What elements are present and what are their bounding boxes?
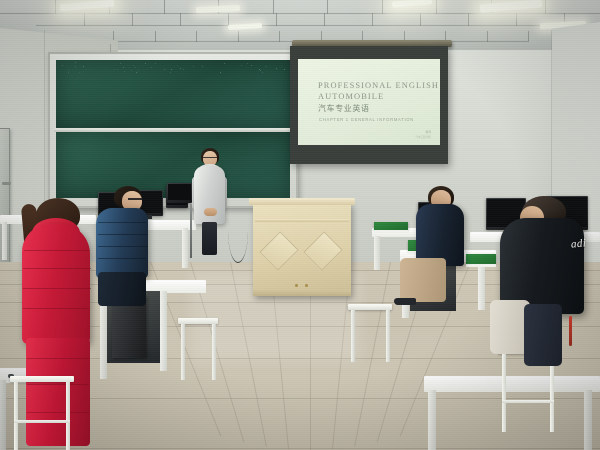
ceiling-tile (324, 13, 373, 25)
ceiling-tile (487, 31, 529, 42)
coat-quilt-line (23, 288, 91, 289)
desk-leg (182, 228, 188, 268)
chalk-dust (136, 72, 137, 73)
desk-leg (2, 222, 7, 260)
desk-leg (0, 380, 6, 450)
laptop (167, 183, 192, 203)
chalk-dust (138, 70, 139, 71)
desk-leg (374, 236, 380, 270)
lectern-diamond-panel-2 (304, 232, 343, 271)
chalk-dust (251, 65, 252, 66)
jacket-quilt-line (98, 246, 148, 247)
student-blue-lower (98, 272, 146, 306)
glasses-icon (203, 157, 217, 160)
chalk-dust (170, 72, 171, 73)
lectern-base (253, 290, 351, 296)
ceiling-tile (113, 31, 155, 42)
desk-leg (478, 260, 485, 310)
stool-leg (386, 310, 390, 362)
presenter-cable (228, 200, 248, 263)
chalk-dust (62, 65, 63, 66)
chalk-dust (124, 71, 125, 72)
chalk-dust (83, 66, 84, 67)
student-black-jeans (524, 304, 562, 366)
ceiling-tile (180, 13, 229, 25)
chalk-dust (135, 67, 136, 68)
cover-lip (374, 230, 408, 233)
student-navy-shoe (394, 298, 416, 305)
ceiling-tile (327, 0, 383, 14)
door-handle-icon[interactable] (2, 182, 11, 185)
student-navy-pants (400, 258, 446, 302)
ceiling-tile (196, 31, 238, 42)
chalk-dust (193, 66, 194, 67)
chalk-dust (164, 69, 165, 70)
lectern-diamond-panel (260, 232, 299, 271)
lectern-knob-icon-2 (305, 284, 308, 287)
projector-screen: PROFESSIONAL ENGLISH AUTOMOBILE 汽车专业英语 C… (290, 46, 448, 164)
stool-leg (181, 324, 185, 380)
slide-title-line1: PROFESSIONAL ENGLISH (318, 81, 439, 90)
chalk-dust (114, 69, 115, 70)
stool (178, 318, 218, 380)
chalk-dust (133, 65, 134, 66)
ceiling-tile (109, 0, 165, 14)
lectern (253, 203, 351, 296)
chalk-dust (120, 63, 121, 64)
stool-seat (10, 376, 74, 382)
classroom-photo: PROFESSIONAL ENGLISH AUTOMOBILE 汽车专业英语 C… (0, 0, 600, 450)
chalk-dust (68, 72, 69, 73)
ceiling-tile (132, 13, 181, 25)
chalk-dust (123, 67, 124, 68)
chalk-dust (247, 63, 248, 64)
coat-quilt-line (23, 268, 91, 269)
chalk-dust (266, 66, 267, 67)
chalk-dust (177, 65, 178, 66)
laptop-screen (168, 184, 191, 200)
chalk-dust (75, 62, 76, 63)
ceiling-tile (468, 13, 517, 25)
stool-leg (14, 382, 18, 450)
stool-leg (351, 310, 355, 362)
chalk-dust (276, 68, 277, 69)
slide-footer-line2: 汽车工程学院 (415, 135, 431, 139)
ceiling-tile (155, 31, 197, 42)
desk-leg (160, 291, 167, 371)
instructor-legs (202, 222, 217, 255)
chalk-dust (155, 63, 156, 64)
ceiling-tile (420, 13, 469, 25)
monitor-cover (374, 222, 408, 230)
instructor-hands (204, 208, 217, 216)
chalk-dust (180, 68, 181, 69)
slide-subtitle: CHAPTER 1 GENERAL INFORMATION (319, 117, 414, 122)
slide-title-line2: AUTOMOBILE (318, 92, 384, 101)
presentation-slide: PROFESSIONAL ENGLISH AUTOMOBILE 汽车专业英语 C… (298, 59, 440, 145)
ceiling-tile (0, 0, 56, 14)
coat-quilt-line (23, 308, 89, 309)
ceiling-tile (545, 0, 600, 14)
person-instructor (194, 148, 228, 260)
chalk-dust (68, 70, 69, 71)
stool-rail (14, 420, 70, 423)
jacket-logo: adi (570, 237, 586, 250)
jacket-zipper-icon (569, 316, 572, 346)
chalk-dust (241, 65, 242, 66)
desk-leg (428, 390, 436, 450)
student-navy-jacket (416, 204, 464, 266)
lectern-top (249, 198, 355, 205)
chalk-dust (117, 69, 118, 70)
ceiling-tile (36, 13, 85, 25)
ceiling-light (228, 23, 262, 30)
chalk-dust (151, 67, 152, 68)
stool (348, 304, 392, 362)
person-student-black: adi (500, 196, 596, 450)
chalk-dust (262, 72, 263, 73)
lectern-band (255, 219, 349, 222)
jacket-quilt-line (98, 258, 146, 259)
student-red-coat (22, 224, 90, 344)
chalk-dust (202, 66, 203, 67)
ceiling-tile (238, 31, 280, 42)
ceiling-tile (372, 13, 421, 25)
jacket-quilt-line (98, 234, 148, 235)
chalk-dust (75, 66, 76, 67)
ceiling-tile (276, 13, 325, 25)
coat-quilt-line (27, 358, 89, 359)
ceiling-tile (273, 0, 329, 14)
chalkboard-panel-upper (56, 60, 290, 128)
chalk-dust (145, 63, 146, 64)
ceiling-tile (84, 13, 133, 25)
person-student-blue (96, 186, 152, 306)
stool (10, 376, 74, 450)
chalk-dust (260, 70, 261, 71)
stool-leg (212, 324, 216, 380)
chalk-dust (220, 72, 221, 73)
jacket-quilt-line (98, 222, 146, 223)
chalk-dust (284, 69, 285, 70)
chalk-dust (171, 69, 172, 70)
glasses-icon (128, 198, 143, 202)
slide-title-chinese: 汽车专业英语 (318, 103, 370, 114)
chalk-dust (224, 63, 225, 64)
student-blue-jacket (96, 208, 148, 278)
coat-quilt-line (24, 250, 90, 251)
chalk-dust (79, 72, 80, 73)
stool-leg (66, 382, 70, 450)
chalk-dust (183, 69, 184, 70)
slide-footer-line1: 教师 (425, 130, 431, 134)
chalk-dust (131, 70, 132, 71)
person-student-navy (416, 186, 476, 316)
lectern-knob-icon (295, 284, 298, 287)
mic-stand (190, 204, 192, 258)
